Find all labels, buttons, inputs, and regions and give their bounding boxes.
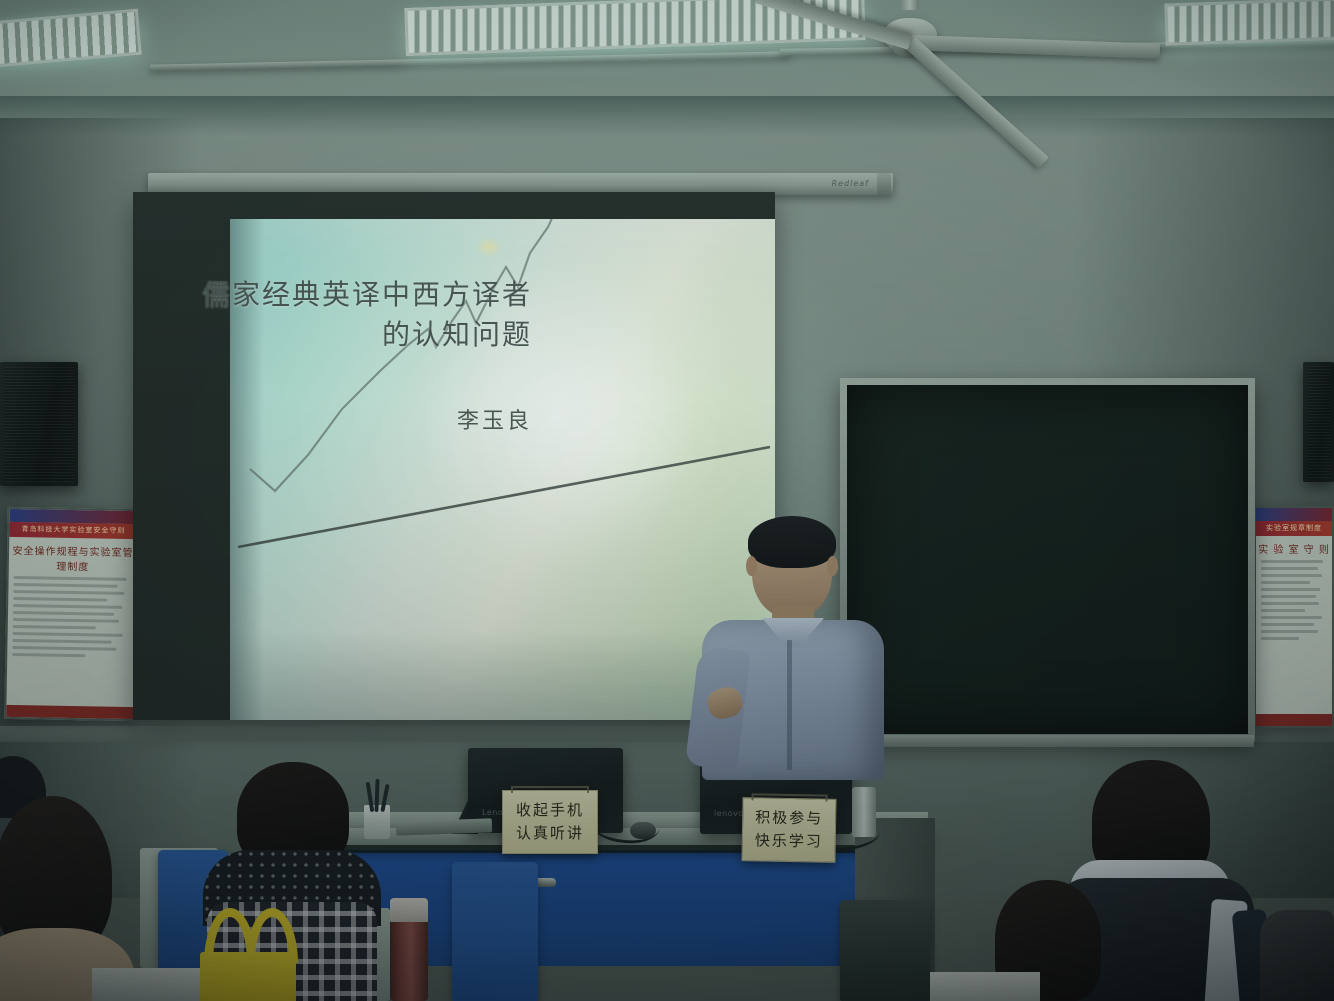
- thermos-bottle-on-desk[interactable]: [852, 787, 876, 837]
- audience-member-right-edge: [1260, 910, 1334, 1001]
- thermos-lid: [390, 898, 428, 922]
- ceiling-light-fixture-right: [1164, 0, 1334, 46]
- screen-housing-end-cap: [877, 173, 891, 195]
- sign-line-1: 积极参与: [755, 806, 823, 830]
- ceiling-fan: [810, 0, 1010, 70]
- mouse[interactable]: [630, 822, 656, 839]
- sign-clips: [752, 793, 828, 801]
- yellow-tote-bag[interactable]: [200, 908, 300, 1001]
- ceiling-shadow: [0, 96, 1334, 136]
- presenter: [690, 520, 890, 770]
- paper-on-desk-right: [930, 972, 1040, 1001]
- paper-on-desk-left: [92, 968, 212, 1001]
- wall-speaker-left: [0, 362, 78, 486]
- student-chair-right[interactable]: [840, 900, 930, 1001]
- screen-brand-label: Redleaf: [832, 179, 869, 188]
- presenter-ear-right: [827, 556, 838, 576]
- right-wall-poster: 实验室规章制度 实 验 室 守 则: [1254, 506, 1334, 728]
- slide-author: 李玉良: [150, 403, 532, 435]
- poster-top-bar: [1256, 508, 1332, 521]
- sign-line-1: 收起手机: [516, 799, 584, 822]
- projector-screen-frame: [133, 192, 775, 720]
- student-chair-center[interactable]: [452, 862, 538, 1001]
- poster-title-right: 实 验 室 守 则: [1256, 541, 1332, 556]
- ceiling-light-fixture-left: [0, 9, 142, 70]
- sign-line-2: 认真听讲: [516, 822, 584, 845]
- slide-title: 儒家经典英译中西方译者 的认知问题: [150, 275, 532, 355]
- blackboard: [840, 378, 1255, 741]
- slide-title-line-2: 的认知问题: [150, 315, 532, 355]
- poster-bottom-bar-right: [1256, 714, 1332, 726]
- blackboard-chalk-tray: [842, 735, 1254, 747]
- poster-banner-left: 青岛科技大学实验室安全守则: [9, 522, 137, 539]
- poster-body-left: [7, 576, 136, 658]
- blackboard-surface: [847, 385, 1248, 734]
- sign-clips: [511, 786, 589, 793]
- tote-body: [200, 952, 296, 1001]
- poster-banner-right: 实验室规章制度: [1256, 521, 1332, 536]
- audience-right-edge-body: [1260, 910, 1334, 1001]
- ceiling-fan-rod: [901, 0, 919, 10]
- put-away-phone-sign: 收起手机 认真听讲: [502, 790, 598, 854]
- presenter-placket: [787, 640, 792, 770]
- presenter-hair: [748, 516, 836, 568]
- slide-title-line-1: 儒家经典英译中西方译者: [150, 275, 532, 315]
- wall-speaker-right: [1303, 362, 1334, 482]
- poster-body-right: [1256, 560, 1332, 640]
- active-participation-sign: 积极参与 快乐学习: [741, 797, 836, 863]
- poster-bottom-bar-left: [6, 705, 134, 719]
- left-wall-poster: 青岛科技大学实验室安全守则 安全操作规程与实验室管理制度: [4, 507, 140, 721]
- sign-line-2: 快乐学习: [755, 829, 823, 853]
- right-monitor-brand: lenovo: [714, 809, 744, 818]
- lecture-hall-photo: Redleaf 儒家经典英译中西方译者 的认知问题 李玉良 青岛科技大学实验室安…: [0, 0, 1334, 1001]
- poster-title-left: 安全操作规程与实验室管理制度: [9, 542, 138, 574]
- thermos-bottle-foreground[interactable]: [390, 898, 428, 1001]
- presenter-ear-left: [746, 556, 757, 576]
